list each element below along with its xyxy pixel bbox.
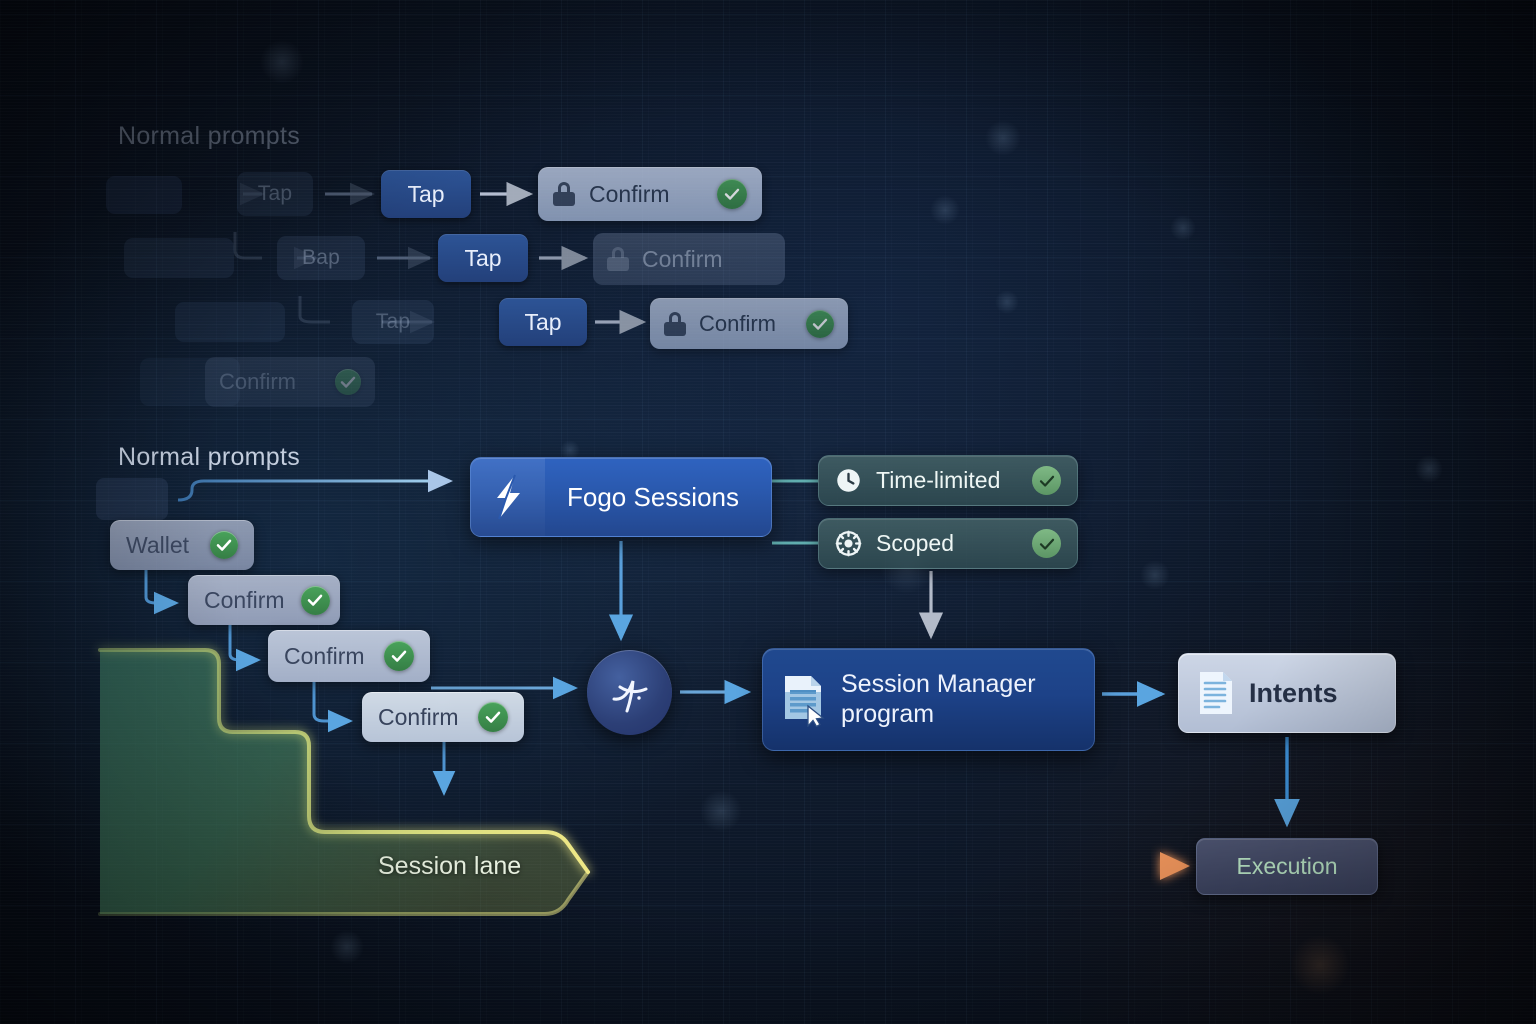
tap-chip[interactable]: Tap <box>499 298 587 346</box>
check-icon <box>1032 466 1061 495</box>
fogo-sessions-node[interactable]: Fogo Sessions <box>470 457 772 537</box>
diagram-canvas: Normal prompts Tap Tap Confirm Bap Tap C… <box>0 0 1536 1024</box>
confirm-label: Confirm <box>219 369 323 395</box>
bokeh-particle <box>1290 935 1350 995</box>
bokeh-particle <box>985 120 1021 156</box>
confirm-chip-ghost: Confirm <box>593 233 785 285</box>
bokeh-particle <box>700 790 742 832</box>
badge-label: Time-limited <box>876 467 1000 494</box>
intents-node[interactable]: Intents <box>1178 653 1396 733</box>
check-icon <box>806 310 834 338</box>
bokeh-particle <box>1415 455 1443 483</box>
tap-chip[interactable]: Tap <box>438 234 528 282</box>
normal-prompts-title-bottom: Normal prompts <box>118 443 300 472</box>
session-manager-program-node[interactable]: Session Manager program <box>762 648 1095 751</box>
chip-label: Confirm <box>204 587 285 614</box>
fogo-signature-icon <box>587 650 672 735</box>
ghost-chip-bap: Bap <box>277 236 365 280</box>
intents-label: Intents <box>1249 678 1338 709</box>
confirm-chip[interactable]: Confirm <box>538 167 762 221</box>
chip-label: Tap <box>376 310 410 334</box>
execution-node[interactable]: Execution <box>1196 838 1378 895</box>
lock-icon <box>607 247 629 271</box>
bokeh-particle <box>1140 560 1170 590</box>
tap-label: Tap <box>464 245 501 272</box>
ghost-chip <box>96 478 168 520</box>
session-manager-label: Session Manager program <box>841 670 1036 729</box>
document-lines-icon <box>1197 670 1235 716</box>
badge-scoped[interactable]: Scoped <box>818 518 1078 569</box>
list-item[interactable]: Confirm <box>362 692 524 742</box>
confirm-label: Confirm <box>589 181 703 208</box>
check-icon <box>210 531 238 559</box>
check-icon <box>384 641 414 671</box>
lock-icon <box>664 312 686 336</box>
confirm-label: Confirm <box>642 246 723 273</box>
list-item[interactable]: Wallet <box>110 520 254 570</box>
confirm-label: Confirm <box>699 311 793 337</box>
tap-chip[interactable]: Tap <box>381 170 471 218</box>
session-lane-label: Session lane <box>378 852 521 881</box>
check-icon <box>1032 529 1061 558</box>
list-item[interactable]: Confirm <box>188 575 340 625</box>
check-icon <box>301 586 330 615</box>
chip-label: Tap <box>258 182 292 206</box>
bokeh-particle <box>330 930 364 964</box>
ghost-chip-tap: Tap <box>237 172 313 216</box>
lightning-bolt-icon <box>471 458 545 536</box>
compass-target-icon <box>835 530 862 557</box>
tap-label: Tap <box>524 309 561 336</box>
confirm-chip-ghost: Confirm <box>205 357 375 407</box>
badge-time-limited[interactable]: Time-limited <box>818 455 1078 506</box>
badge-label: Scoped <box>876 530 954 557</box>
check-icon <box>478 702 508 732</box>
chip-label: Confirm <box>378 704 462 731</box>
confirm-chip[interactable]: Confirm <box>650 298 848 349</box>
chip-label: Confirm <box>284 643 368 670</box>
ghost-chip <box>124 238 234 278</box>
check-icon <box>717 179 747 209</box>
fogo-sessions-label: Fogo Sessions <box>545 482 739 513</box>
list-item[interactable]: Confirm <box>268 630 430 682</box>
document-cursor-icon <box>781 673 827 727</box>
bokeh-particle <box>995 290 1019 314</box>
bokeh-particle <box>930 195 960 225</box>
chip-label: Bap <box>302 246 340 270</box>
ghost-chip <box>106 176 182 214</box>
ghost-chip <box>175 302 285 342</box>
check-icon <box>335 369 361 395</box>
ghost-chip-tap: Tap <box>352 300 434 344</box>
normal-prompts-title-top: Normal prompts <box>118 122 300 151</box>
bokeh-particle <box>1170 215 1196 241</box>
chip-label: Wallet <box>126 532 194 559</box>
execution-label: Execution <box>1236 853 1337 880</box>
tap-label: Tap <box>407 181 444 208</box>
bokeh-particle <box>260 40 304 84</box>
lock-icon <box>553 182 575 206</box>
clock-icon <box>835 467 862 494</box>
